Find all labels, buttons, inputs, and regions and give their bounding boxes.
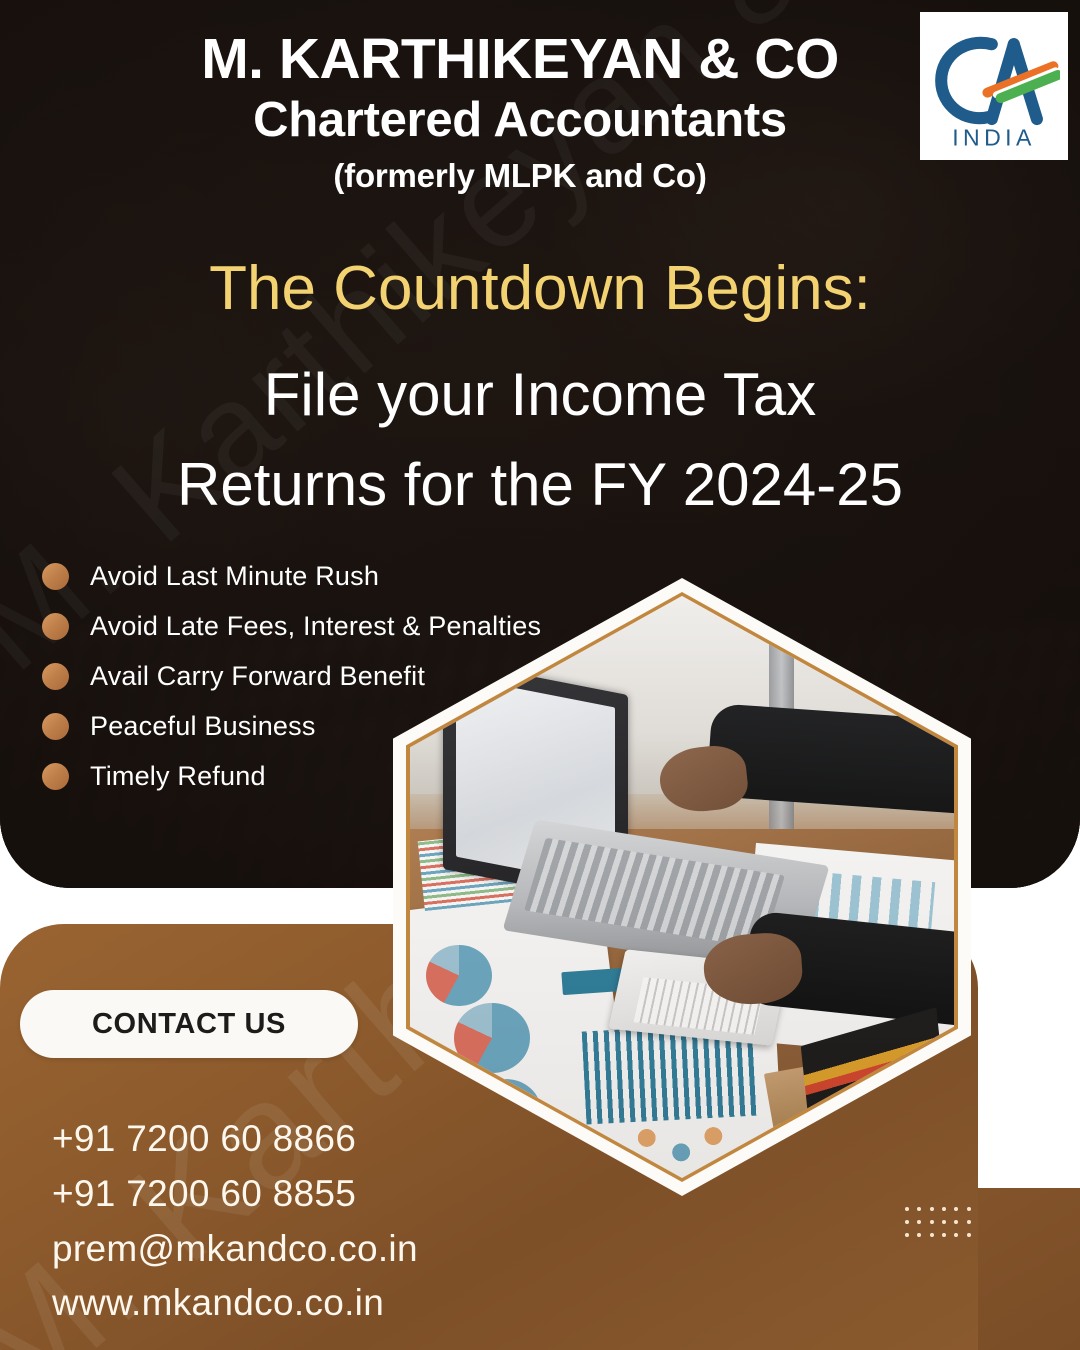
grid-dot xyxy=(917,1207,921,1211)
hexagon-photo-frame xyxy=(393,578,971,1196)
grid-dot xyxy=(917,1220,921,1224)
grid-dot xyxy=(954,1207,958,1211)
contact-website[interactable]: www.mkandco.co.in xyxy=(52,1276,418,1331)
ca-india-logo: INDIA xyxy=(920,12,1068,160)
contact-email[interactable]: prem@mkandco.co.in xyxy=(52,1222,418,1277)
benefit-label: Avail Carry Forward Benefit xyxy=(90,661,425,692)
contact-us-label: CONTACT US xyxy=(92,1008,286,1041)
benefit-label: Timely Refund xyxy=(90,761,266,792)
contact-details-list: +91 7200 60 8866 +91 7200 60 8855 prem@m… xyxy=(52,1112,418,1331)
decorative-dot-grid xyxy=(902,1204,974,1240)
grid-dot xyxy=(930,1233,934,1237)
company-former-name: (formerly MLPK and Co) xyxy=(0,151,1080,201)
headline-white-line-2: Returns for the FY 2024-25 xyxy=(0,442,1080,527)
bullet-dot-icon xyxy=(42,613,69,640)
grid-dot xyxy=(954,1233,958,1237)
grid-dot xyxy=(905,1220,909,1224)
grid-dot xyxy=(930,1207,934,1211)
ca-india-logo-icon: INDIA xyxy=(928,20,1060,152)
grid-dot xyxy=(942,1220,946,1224)
grid-dot xyxy=(967,1233,971,1237)
contact-phone-secondary[interactable]: +91 7200 60 8855 xyxy=(52,1167,418,1222)
benefit-label: Avoid Last Minute Rush xyxy=(90,561,379,592)
headline-block: The Countdown Begins: File your Income T… xyxy=(0,252,1080,527)
bullet-dot-icon xyxy=(42,563,69,590)
photo-tint-overlay xyxy=(410,596,954,1178)
grid-dot xyxy=(905,1233,909,1237)
poster-canvas: M. Karthikeyan & Co M. KARTHIKEYAN & CO … xyxy=(0,0,1080,1350)
ca-india-logo-label: INDIA xyxy=(952,124,1036,150)
grid-dot xyxy=(942,1233,946,1237)
grid-dot xyxy=(930,1220,934,1224)
contact-us-badge[interactable]: CONTACT US xyxy=(20,990,358,1058)
grid-dot xyxy=(967,1220,971,1224)
grid-dot xyxy=(905,1207,909,1211)
company-name: M. KARTHIKEYAN & CO xyxy=(0,30,1080,90)
brand-header: M. KARTHIKEYAN & CO Chartered Accountant… xyxy=(0,30,1080,201)
grid-dot xyxy=(942,1207,946,1211)
bullet-dot-icon xyxy=(42,713,69,740)
hexagon-desk-photo xyxy=(410,596,954,1178)
grid-dot xyxy=(917,1233,921,1237)
bullet-dot-icon xyxy=(42,663,69,690)
contact-phone-primary[interactable]: +91 7200 60 8866 xyxy=(52,1112,418,1167)
bullet-dot-icon xyxy=(42,763,69,790)
headline-white-line-1: File your Income Tax xyxy=(0,352,1080,437)
headline-gold-line: The Countdown Begins: xyxy=(0,252,1080,326)
benefit-label: Peaceful Business xyxy=(90,711,316,742)
grid-dot xyxy=(954,1220,958,1224)
grid-dot xyxy=(967,1207,971,1211)
desk-photo-scene xyxy=(410,596,954,1178)
company-subtitle: Chartered Accountants xyxy=(0,90,1080,151)
